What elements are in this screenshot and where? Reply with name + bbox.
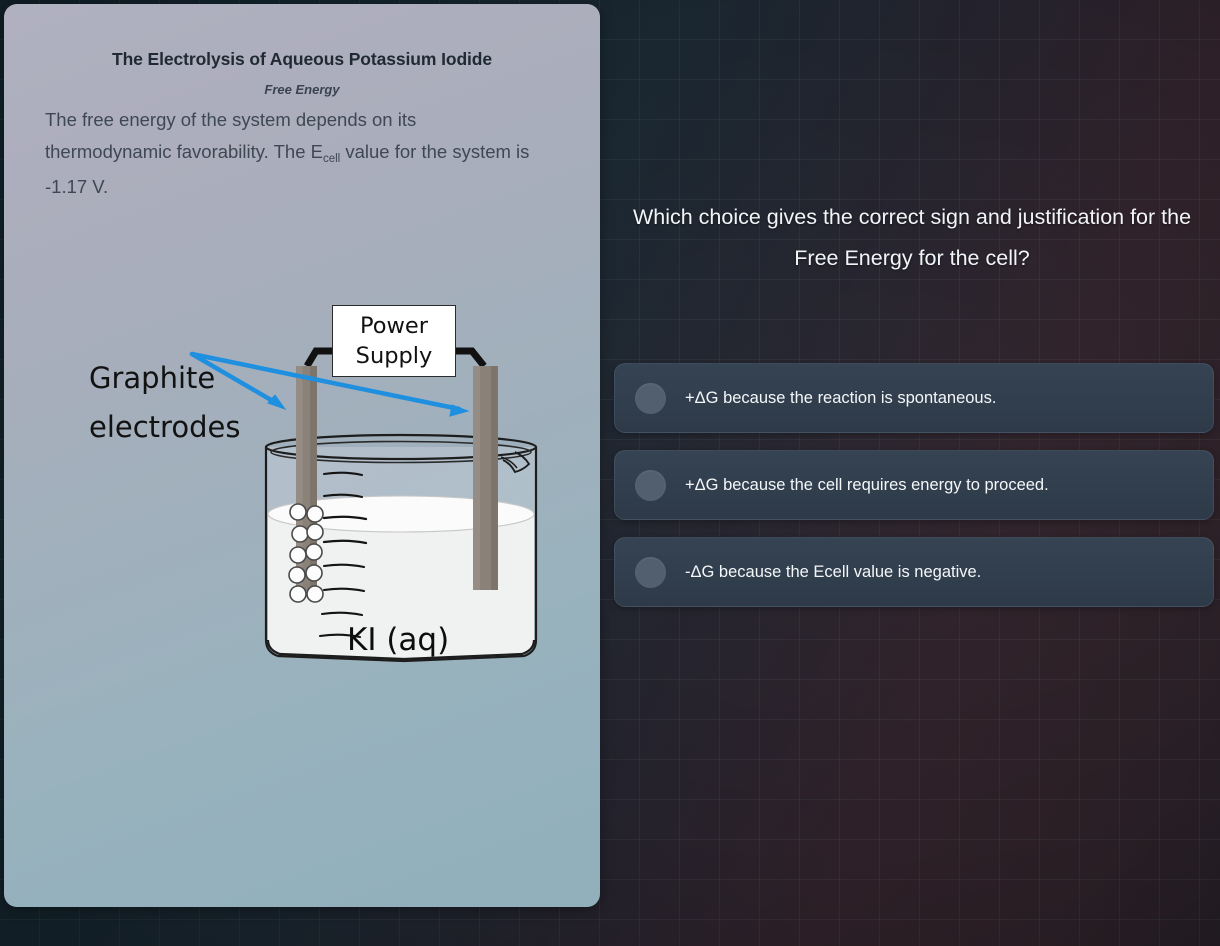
radio-button-icon-3[interactable]: [635, 557, 666, 588]
power-supply-box: Power Supply: [332, 305, 456, 377]
stimulus-body-text: The free energy of the system depends on…: [45, 104, 545, 203]
answer-option-2[interactable]: +ΔG because the cell requires energy to …: [614, 450, 1214, 520]
power-supply-line-1: Power: [360, 311, 428, 341]
solution-label: KI (aq): [347, 622, 449, 658]
answer-option-label-3: -ΔG because the Ecell value is negative.: [685, 561, 1197, 583]
question-area: Which choice gives the correct sign and …: [600, 0, 1220, 946]
radio-button-icon-1[interactable]: [635, 383, 666, 414]
electrolysis-diagram-svg: [4, 244, 600, 694]
question-prompt: Which choice gives the correct sign and …: [620, 197, 1204, 279]
electrolysis-diagram: [4, 244, 600, 694]
answer-options-list: +ΔG because the reaction is spontaneous.…: [614, 363, 1214, 624]
radio-button-icon-2[interactable]: [635, 470, 666, 501]
answer-option-1[interactable]: +ΔG because the reaction is spontaneous.: [614, 363, 1214, 433]
stimulus-content: The Electrolysis of Aqueous Potassium Io…: [4, 4, 600, 907]
graphite-label-line-2: electrodes: [89, 403, 319, 452]
graphite-electrodes-label: Graphite electrodes: [89, 354, 319, 452]
power-supply-line-2: Supply: [356, 341, 433, 371]
graphite-label-line-1: Graphite: [89, 354, 319, 403]
ecell-subscript: cell: [323, 153, 340, 165]
answer-option-label-1: +ΔG because the reaction is spontaneous.: [685, 387, 1197, 409]
answer-option-label-2: +ΔG because the cell requires energy to …: [685, 474, 1197, 496]
graphite-electrode-right: [473, 366, 498, 590]
answer-option-3[interactable]: -ΔG because the Ecell value is negative.: [614, 537, 1214, 607]
stimulus-panel: The Electrolysis of Aqueous Potassium Io…: [4, 4, 600, 907]
app-root: The Electrolysis of Aqueous Potassium Io…: [0, 0, 1220, 946]
stimulus-subtitle: Free Energy: [4, 82, 600, 97]
stimulus-title: The Electrolysis of Aqueous Potassium Io…: [4, 49, 600, 70]
